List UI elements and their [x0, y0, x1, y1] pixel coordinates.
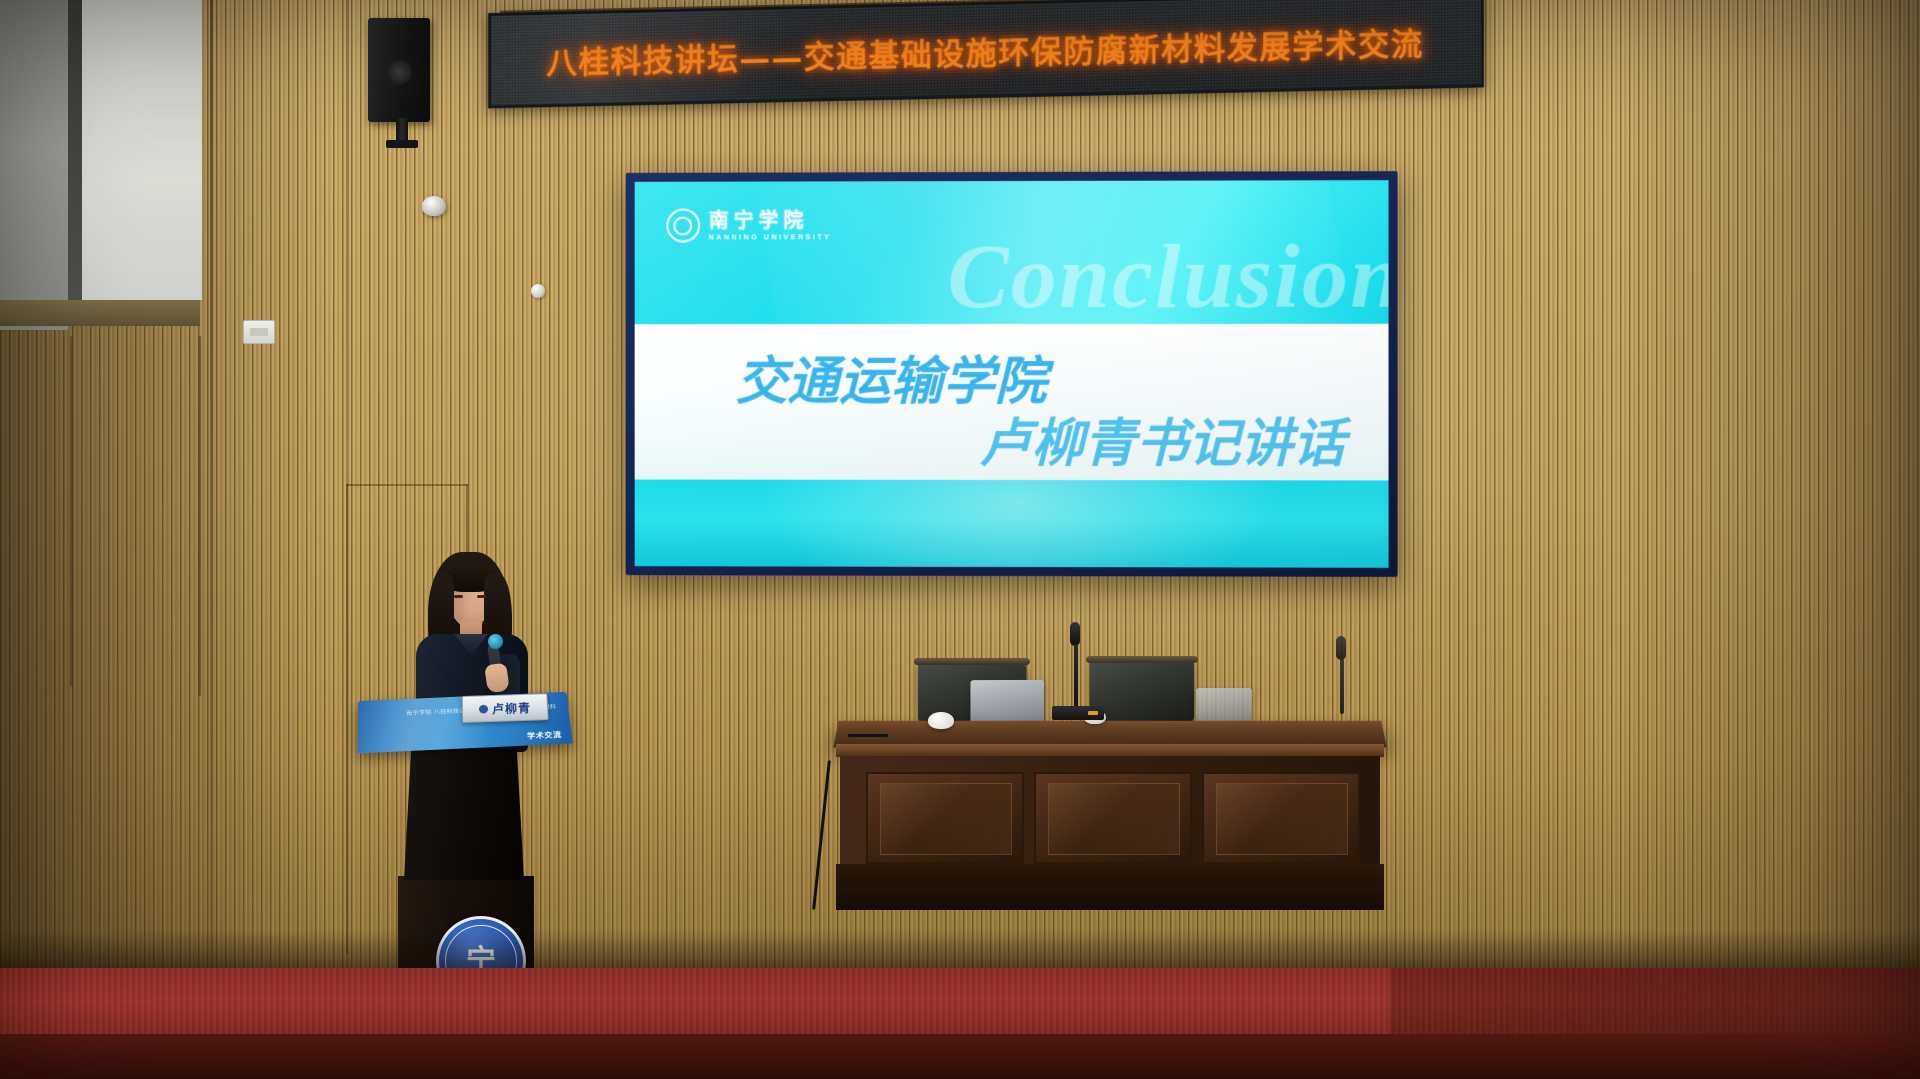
dome-camera-icon: [422, 196, 446, 216]
wall-panel-dark-strip: [68, 0, 82, 320]
loudspeaker-base: [386, 140, 418, 148]
podium-nameplate: 卢柳青: [462, 693, 549, 723]
blue-dot-icon: [479, 704, 488, 713]
laptop: [970, 680, 1044, 724]
head-table-panel: [1202, 772, 1360, 864]
status-led-icon: [1088, 711, 1098, 715]
university-name-cn: 南宁学院: [709, 210, 832, 230]
wall-panel-base: [0, 300, 200, 326]
eyes: [454, 595, 486, 599]
head-table-panel: [1034, 772, 1192, 864]
office-chair-headrail: [914, 658, 1030, 665]
cable: [848, 734, 888, 737]
computer-mouse: [928, 712, 954, 729]
university-emblem-icon: [666, 209, 700, 243]
slide-watermark: Conclusion: [948, 223, 1389, 330]
university-logo-text: 南宁学院 NANNING UNIVERSITY: [709, 210, 832, 241]
microphone-stem: [1074, 644, 1078, 710]
projection-screen: Conclusion 南宁学院 NANNING UNIVERSITY 交通运输学…: [635, 180, 1389, 568]
hanging-cord: [198, 336, 201, 696]
head-table-panel: [866, 772, 1024, 864]
loudspeaker-icon: [368, 18, 430, 122]
slide-bottom-band: [635, 480, 1389, 568]
gooseneck-microphone-icon: [1336, 636, 1346, 660]
microphone-stem: [1340, 658, 1344, 714]
podium-panel-bold-text: 学术交流: [527, 730, 563, 741]
podium-column: [404, 748, 524, 880]
laptop: [1196, 688, 1252, 724]
wall-seam: [210, 0, 213, 1079]
office-chair-headrail: [1086, 656, 1198, 663]
presentation-slide: Conclusion 南宁学院 NANNING UNIVERSITY 交通运输学…: [635, 180, 1389, 568]
door-edge: [346, 484, 348, 954]
university-name-en: NANNING UNIVERSITY: [709, 234, 832, 241]
stage-step-front: [0, 1034, 1920, 1079]
wall-panel-light: [82, 0, 202, 300]
microphone-head: [488, 634, 503, 649]
university-logo: 南宁学院 NANNING UNIVERSITY: [666, 208, 831, 242]
wall-shadow-right: [1620, 0, 1920, 1079]
wall-base-shadow: [0, 930, 1920, 970]
wall-outlet-icon: [243, 320, 275, 344]
smoke-detector-icon: [531, 284, 545, 298]
wall-panel-grey: [0, 0, 68, 330]
projection-screen-frame: Conclusion 南宁学院 NANNING UNIVERSITY 交通运输学…: [626, 171, 1398, 577]
nameplate-name: 卢柳青: [492, 699, 532, 717]
gooseneck-microphone-icon: [1070, 622, 1080, 646]
hanging-cord: [70, 336, 73, 686]
control-unit: [1052, 706, 1104, 720]
slide-heading-line2: 卢柳青书记讲话: [980, 401, 1345, 476]
door-edge: [346, 484, 468, 486]
lecture-hall-photo: 八桂科技讲坛——交通基础设施环保防腐新材料发展学术交流 Conclusion 南…: [0, 0, 1920, 1079]
office-chair: [1090, 660, 1194, 722]
head-table-skirt: [836, 864, 1384, 910]
